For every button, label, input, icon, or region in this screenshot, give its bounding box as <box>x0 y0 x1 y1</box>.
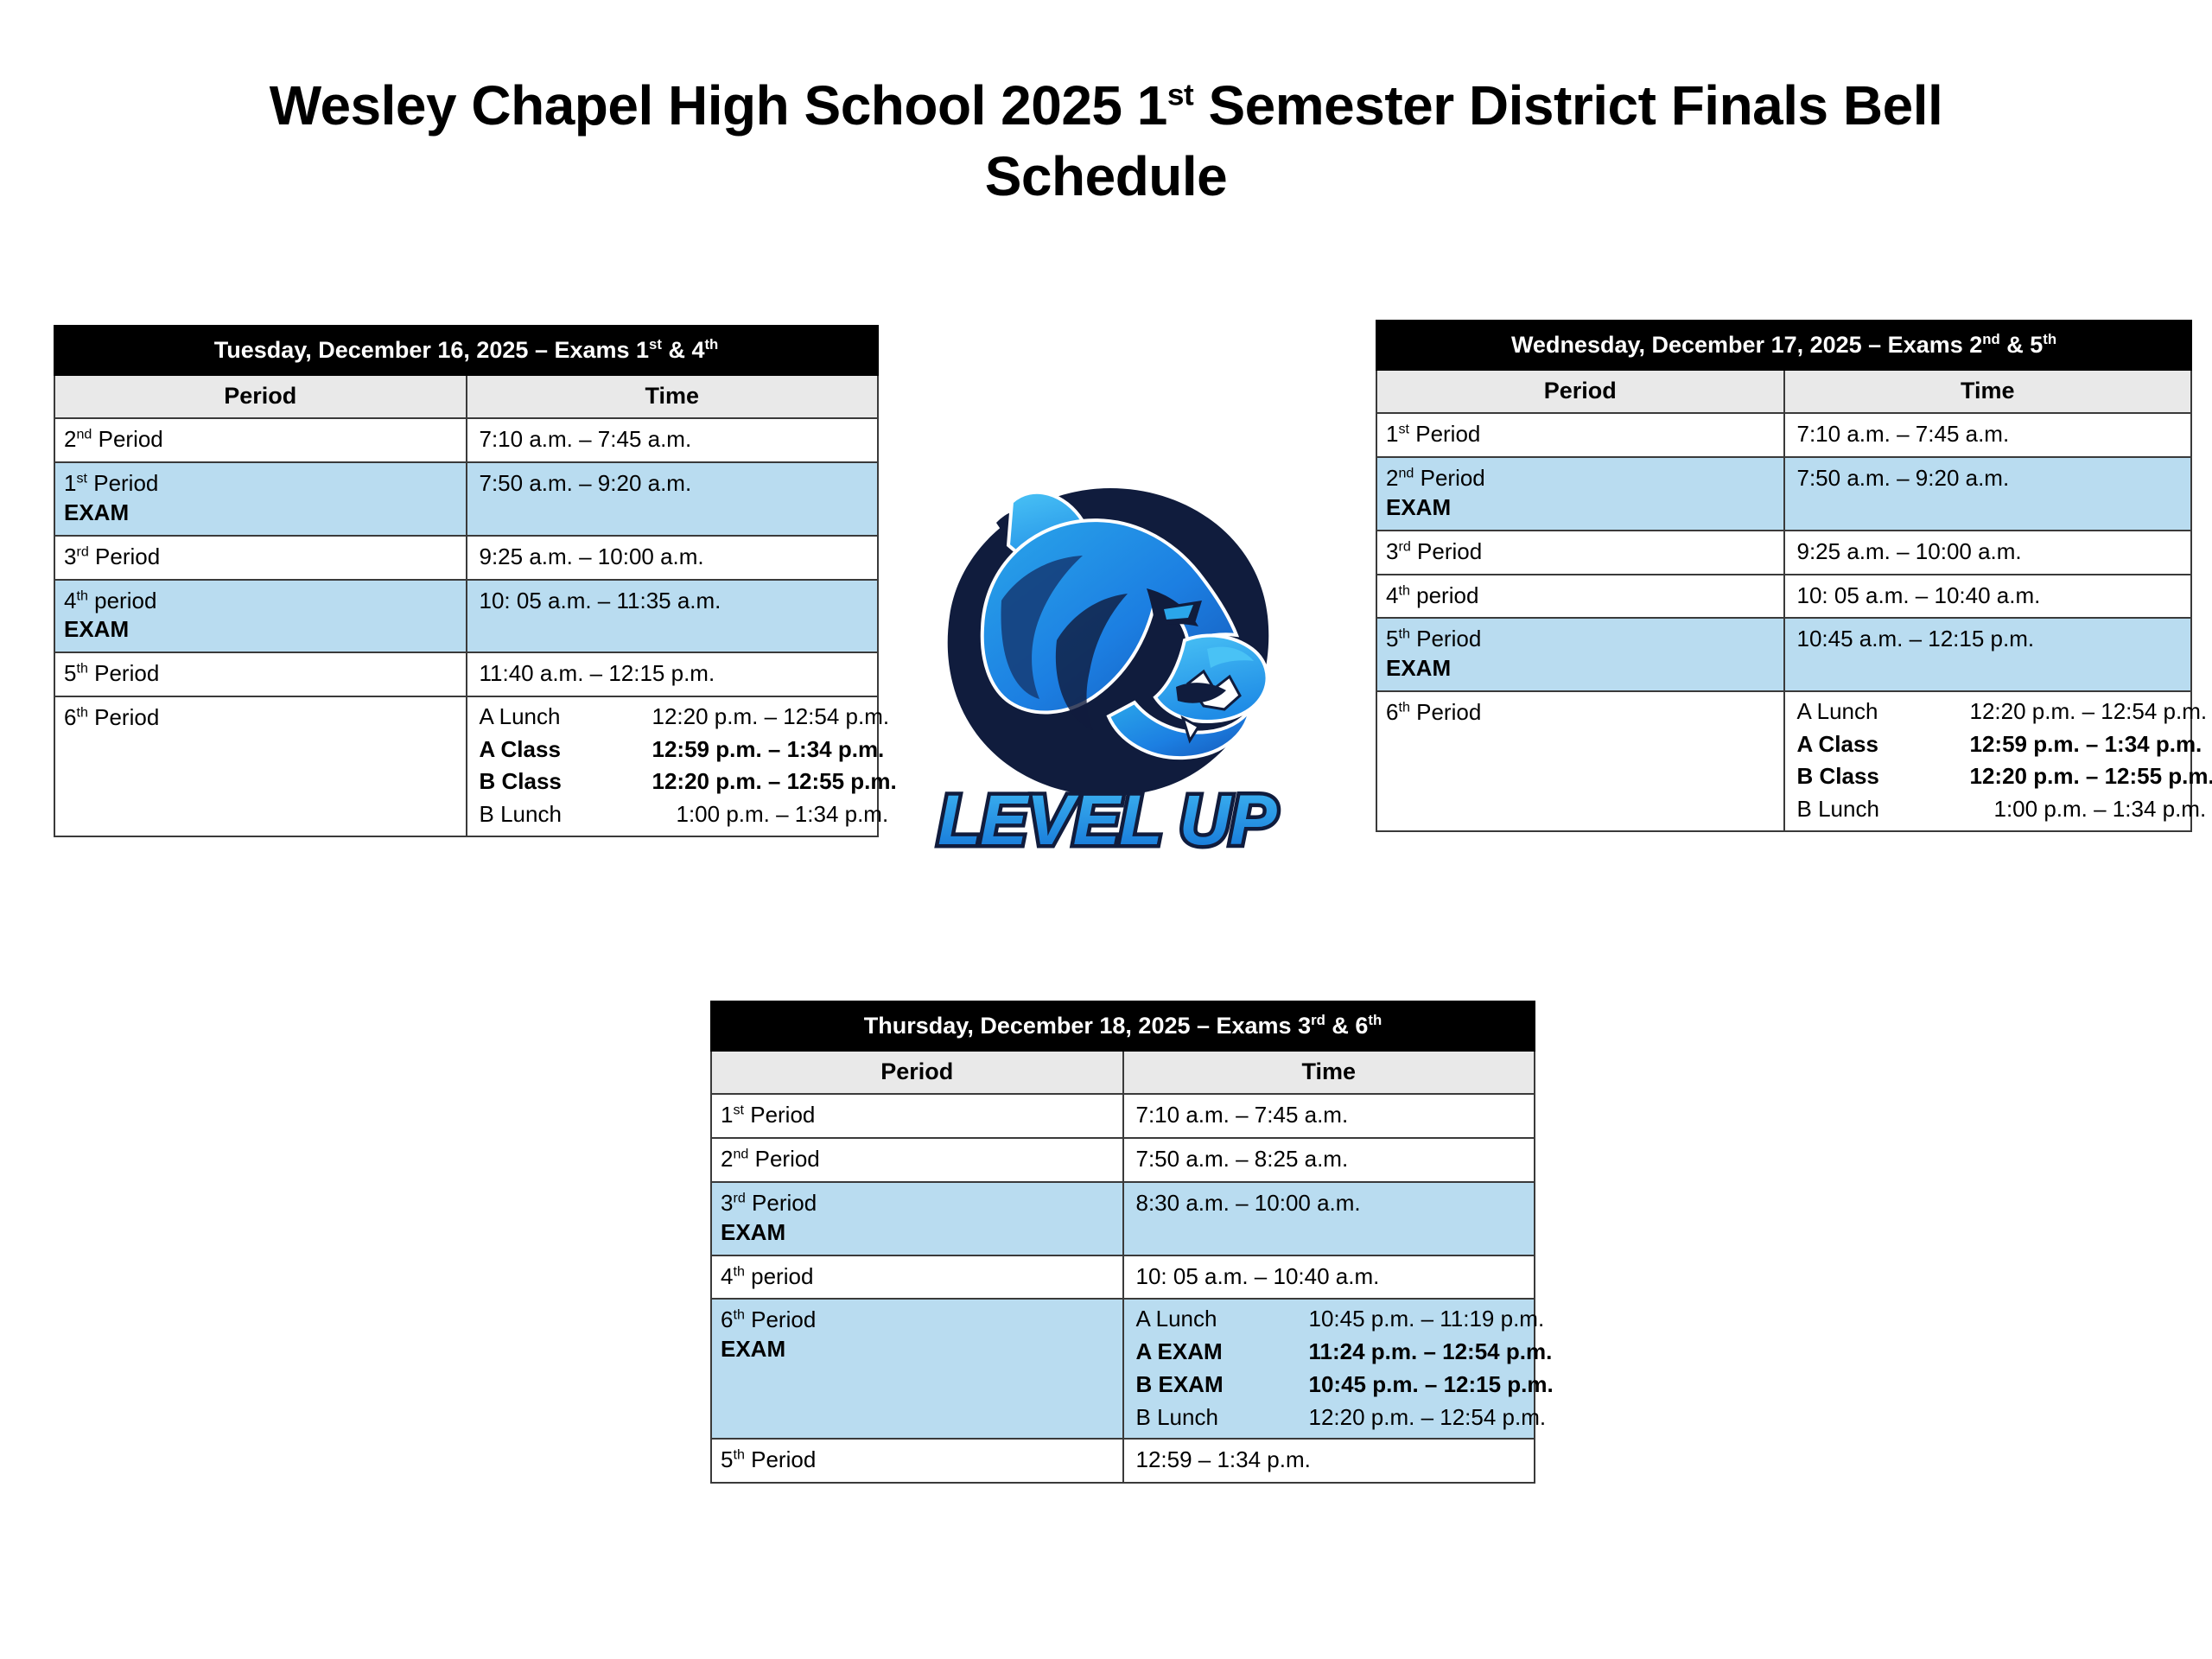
exam-label: EXAM <box>64 499 461 528</box>
lunch-item-name: A Class <box>1797 731 1970 759</box>
column-header-row: PeriodTime <box>711 1051 1535 1094</box>
exam-label: EXAM <box>721 1218 1117 1248</box>
time-value: 7:50 a.m. – 9:20 a.m. <box>467 462 879 536</box>
page-title: Wesley Chapel High School 2025 1st Semes… <box>43 0 2169 213</box>
period-label: 6th Period <box>54 696 467 836</box>
lunch-block: A Lunch10:45 p.m. – 11:19 p.m.A EXAM11:2… <box>1123 1299 1535 1439</box>
exam-label: EXAM <box>1386 493 1778 523</box>
day-header-row: Thursday, December 18, 2025 – Exams 3rd … <box>711 1001 1535 1051</box>
schedule-row: 1st Period7:10 a.m. – 7:45 a.m. <box>711 1094 1535 1138</box>
lunch-item-name: B Lunch <box>1136 1404 1309 1432</box>
period-label: 5th Period <box>54 652 467 696</box>
period-label: 3rd PeriodEXAM <box>711 1182 1123 1255</box>
lunch-item-name: B Class <box>480 768 652 796</box>
lunch-item-name: A Lunch <box>480 703 652 731</box>
lunch-item-time: 10:45 p.m. – 12:15 p.m. <box>1309 1371 1554 1399</box>
lunch-item-name: B Lunch <box>480 801 652 829</box>
column-header-period: Period <box>711 1051 1123 1094</box>
schedule-row: 2nd Period7:10 a.m. – 7:45 a.m. <box>54 418 878 462</box>
column-header-time: Time <box>1123 1051 1535 1094</box>
schedule-row: 1st Period7:10 a.m. – 7:45 a.m. <box>1376 413 2191 457</box>
lunch-item-time: 12:20 p.m. – 12:55 p.m. <box>652 768 897 796</box>
column-header-row: PeriodTime <box>1376 370 2191 413</box>
schedule-row: 4th period10: 05 a.m. – 10:40 a.m. <box>1376 575 2191 619</box>
schedule-row: 3rd Period9:25 a.m. – 10:00 a.m. <box>1376 531 2191 575</box>
period-label: 4th periodEXAM <box>54 580 467 653</box>
day-header-row: Wednesday, December 17, 2025 – Exams 2nd… <box>1376 321 2191 370</box>
schedule-table-thursday: Thursday, December 18, 2025 – Exams 3rd … <box>710 1001 1535 1484</box>
period-label: 5th Period <box>711 1439 1123 1483</box>
period-label: 4th period <box>711 1255 1123 1300</box>
day-header: Thursday, December 18, 2025 – Exams 3rd … <box>711 1001 1535 1051</box>
column-header-time: Time <box>1784 370 2192 413</box>
period-label: 6th Period <box>1376 691 1784 831</box>
time-value: 10: 05 a.m. – 10:40 a.m. <box>1784 575 2192 619</box>
lunch-item-name: B Lunch <box>1797 796 1970 823</box>
time-value: 7:10 a.m. – 7:45 a.m. <box>1784 413 2192 457</box>
lunch-item-time: 12:20 p.m. – 12:54 p.m. <box>1309 1404 1554 1432</box>
period-label: 1st Period <box>711 1094 1123 1138</box>
lunch-item-time: 11:24 p.m. – 12:54 p.m. <box>1309 1338 1554 1366</box>
column-header-period: Period <box>1376 370 1784 413</box>
schedule-row: 4th period10: 05 a.m. – 10:40 a.m. <box>711 1255 1535 1300</box>
period-label: 1st Period <box>1376 413 1784 457</box>
exam-label: EXAM <box>64 615 461 645</box>
time-value: 10:45 a.m. – 12:15 p.m. <box>1784 618 2192 691</box>
time-value: 7:50 a.m. – 8:25 a.m. <box>1123 1138 1535 1182</box>
schedule-row-lunch: 6th PeriodA Lunch12:20 p.m. – 12:54 p.m.… <box>54 696 878 836</box>
period-label: 4th period <box>1376 575 1784 619</box>
logo-wordmark: LEVEL UP <box>938 781 1277 860</box>
time-value: 7:10 a.m. – 7:45 a.m. <box>1123 1094 1535 1138</box>
period-label: 6th PeriodEXAM <box>711 1299 1123 1439</box>
lunch-block: A Lunch12:20 p.m. – 12:54 p.m.A Class12:… <box>467 696 879 836</box>
svg-text:LEVEL UP: LEVEL UP <box>938 781 1277 860</box>
time-value: 7:10 a.m. – 7:45 a.m. <box>467 418 879 462</box>
time-value: 7:50 a.m. – 9:20 a.m. <box>1784 457 2192 531</box>
schedule-row: 5th PeriodEXAM10:45 a.m. – 12:15 p.m. <box>1376 618 2191 691</box>
lunch-item-name: A Lunch <box>1136 1306 1309 1333</box>
lunch-item-time: 1:00 p.m. – 1:34 p.m. <box>1970 796 2212 823</box>
period-label: 3rd Period <box>1376 531 1784 575</box>
schedule-row: 5th Period12:59 – 1:34 p.m. <box>711 1439 1535 1483</box>
column-header-period: Period <box>54 375 467 418</box>
lunch-item-name: B Class <box>1797 763 1970 791</box>
lunch-item-time: 1:00 p.m. – 1:34 p.m. <box>652 801 897 829</box>
page-title-line1: Wesley Chapel High School 2025 1st Semes… <box>270 74 1943 137</box>
time-value: 12:59 – 1:34 p.m. <box>1123 1439 1535 1483</box>
lunch-item-name: A Class <box>480 736 652 764</box>
exam-label: EXAM <box>1386 654 1778 683</box>
wildcat-logo: LEVEL UP <box>929 471 1292 877</box>
time-value: 8:30 a.m. – 10:00 a.m. <box>1123 1182 1535 1255</box>
lunch-item-name: A EXAM <box>1136 1338 1309 1366</box>
period-label: 1st PeriodEXAM <box>54 462 467 536</box>
period-label: 2nd PeriodEXAM <box>1376 457 1784 531</box>
lunch-item-name: A Lunch <box>1797 698 1970 726</box>
period-label: 2nd Period <box>711 1138 1123 1182</box>
column-header-row: PeriodTime <box>54 375 878 418</box>
schedule-table-wednesday: Wednesday, December 17, 2025 – Exams 2nd… <box>1376 320 2192 832</box>
time-value: 9:25 a.m. – 10:00 a.m. <box>1784 531 2192 575</box>
lunch-item-time: 12:59 p.m. – 1:34 p.m. <box>652 736 897 764</box>
lunch-item-time: 10:45 p.m. – 11:19 p.m. <box>1309 1306 1554 1333</box>
page-title-line2: Schedule <box>985 145 1228 207</box>
schedule-row: 3rd PeriodEXAM8:30 a.m. – 10:00 a.m. <box>711 1182 1535 1255</box>
time-value: 11:40 a.m. – 12:15 p.m. <box>467 652 879 696</box>
lunch-item-time: 12:20 p.m. – 12:54 p.m. <box>652 703 897 731</box>
schedule-row-lunch: 6th PeriodEXAMA Lunch10:45 p.m. – 11:19 … <box>711 1299 1535 1439</box>
period-label: 2nd Period <box>54 418 467 462</box>
lunch-item-time: 12:20 p.m. – 12:55 p.m. <box>1970 763 2212 791</box>
day-header: Tuesday, December 16, 2025 – Exams 1st &… <box>54 326 878 375</box>
schedule-row: 4th periodEXAM10: 05 a.m. – 11:35 a.m. <box>54 580 878 653</box>
lunch-item-time: 12:59 p.m. – 1:34 p.m. <box>1970 731 2212 759</box>
schedule-row-lunch: 6th PeriodA Lunch12:20 p.m. – 12:54 p.m.… <box>1376 691 2191 831</box>
schedule-row: 1st PeriodEXAM7:50 a.m. – 9:20 a.m. <box>54 462 878 536</box>
day-header: Wednesday, December 17, 2025 – Exams 2nd… <box>1376 321 2191 370</box>
schedule-row: 5th Period11:40 a.m. – 12:15 p.m. <box>54 652 878 696</box>
schedule-table-tuesday: Tuesday, December 16, 2025 – Exams 1st &… <box>54 325 879 837</box>
exam-label: EXAM <box>721 1335 1117 1364</box>
period-label: 3rd Period <box>54 536 467 580</box>
schedule-row: 3rd Period9:25 a.m. – 10:00 a.m. <box>54 536 878 580</box>
lunch-item-name: B EXAM <box>1136 1371 1309 1399</box>
lunch-block: A Lunch12:20 p.m. – 12:54 p.m.A Class12:… <box>1784 691 2192 831</box>
lunch-item-time: 12:20 p.m. – 12:54 p.m. <box>1970 698 2212 726</box>
day-header-row: Tuesday, December 16, 2025 – Exams 1st &… <box>54 326 878 375</box>
column-header-time: Time <box>467 375 879 418</box>
schedule-row: 2nd PeriodEXAM7:50 a.m. – 9:20 a.m. <box>1376 457 2191 531</box>
period-label: 5th PeriodEXAM <box>1376 618 1784 691</box>
time-value: 9:25 a.m. – 10:00 a.m. <box>467 536 879 580</box>
time-value: 10: 05 a.m. – 11:35 a.m. <box>467 580 879 653</box>
schedule-row: 2nd Period7:50 a.m. – 8:25 a.m. <box>711 1138 1535 1182</box>
time-value: 10: 05 a.m. – 10:40 a.m. <box>1123 1255 1535 1300</box>
